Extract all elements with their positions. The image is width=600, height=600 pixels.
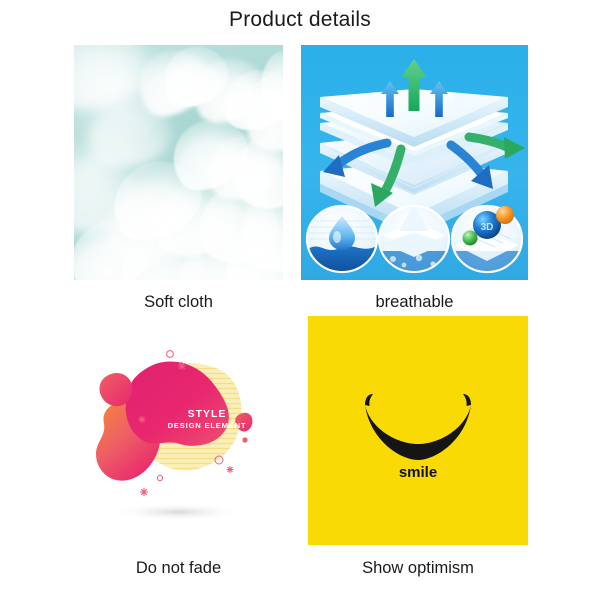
fluid-shadow (112, 503, 244, 521)
fluid-gradient-svg: STYLE DESIGN ELEMENT (74, 316, 283, 545)
product-details-page: Product details (0, 0, 600, 600)
breathable-fabric-svg: 3D (301, 45, 528, 280)
product-card-soft-cloth[interactable]: Soft cloth (74, 45, 283, 280)
three-d-mesh-circle: 3D (452, 206, 522, 273)
card-caption-breathable: breathable (301, 293, 528, 312)
fluid-gradient-graphic: STYLE DESIGN ELEMENT (74, 316, 283, 545)
fluid-overlay-subtitle: DESIGN ELEMENT (168, 421, 247, 430)
smile-curve-svg (308, 316, 528, 545)
card-caption-do-not-fade: Do not fade (74, 559, 283, 578)
page-title: Product details (0, 8, 600, 32)
feather-texture-photo (74, 45, 283, 280)
product-card-breathable[interactable]: 3D breathable (301, 45, 528, 280)
smile-art-canvas: smile (308, 316, 528, 545)
breathable-art-canvas: 3D (301, 45, 528, 280)
three-d-badge-label: 3D (481, 222, 494, 233)
product-card-show-optimism[interactable]: smile Show optimism (308, 316, 528, 545)
smile-graphic: smile (308, 316, 528, 545)
fluid-art-canvas: STYLE DESIGN ELEMENT (74, 316, 283, 545)
card-caption-show-optimism: Show optimism (308, 559, 528, 578)
breathable-fabric-diagram: 3D (301, 45, 528, 280)
smile-tip-left (365, 394, 373, 406)
product-card-do-not-fade[interactable]: STYLE DESIGN ELEMENT Do not fade (74, 316, 283, 545)
card-caption-soft-cloth: Soft cloth (74, 293, 283, 312)
smile-overlay-label: smile (308, 464, 528, 481)
smile-tip-right (463, 394, 471, 406)
fluid-blob-accent-left (99, 373, 132, 406)
smile-mouth-shape (365, 405, 471, 460)
fluid-overlay-title: STYLE (188, 408, 227, 420)
fluid-dot-accent (242, 437, 247, 442)
feather-photo-canvas (74, 45, 283, 280)
water-drop-circle (307, 206, 377, 273)
